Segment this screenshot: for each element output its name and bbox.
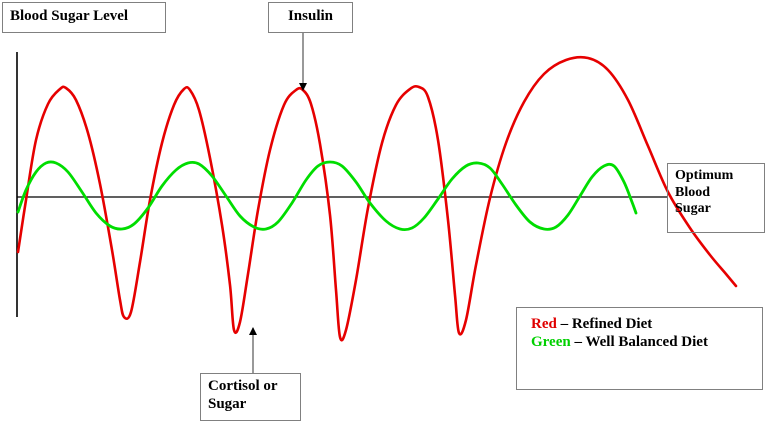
annotation-optimum-line2: Blood	[675, 185, 758, 202]
legend-rows: Red – Refined Diet Green – Well Balanced…	[517, 308, 762, 351]
legend-green-dash: –	[571, 334, 586, 350]
annotation-optimum-line3: Sugar	[675, 201, 758, 218]
legend-item-red: Red – Refined Diet	[531, 316, 762, 334]
legend-red-text: Refined Diet	[572, 316, 652, 332]
chart-canvas: Blood Sugar Level Insulin Cortisol or Su…	[0, 0, 770, 424]
chart-legend: Red – Refined Diet Green – Well Balanced…	[516, 307, 763, 390]
annotation-insulin-label: Insulin	[269, 3, 352, 26]
legend-green-text: Well Balanced Diet	[585, 334, 708, 350]
series-refined-diet-line	[18, 57, 736, 340]
legend-item-green: Green – Well Balanced Diet	[531, 334, 762, 352]
legend-red-dash: –	[557, 316, 572, 332]
annotation-cortisol-line2: Sugar	[208, 396, 294, 414]
legend-red-label: Red	[531, 316, 557, 332]
annotation-optimum-text: Optimum Blood Sugar	[668, 164, 764, 218]
annotation-optimum-line1: Optimum	[675, 168, 758, 185]
annotation-optimum-blood-sugar: Optimum Blood Sugar	[667, 163, 765, 233]
annotation-cortisol: Cortisol or Sugar	[200, 373, 301, 421]
page-title: Blood Sugar Level	[2, 2, 166, 33]
annotation-cortisol-line1: Cortisol or	[208, 378, 294, 396]
legend-green-label: Green	[531, 334, 571, 350]
page-title-label: Blood Sugar Level	[3, 3, 165, 26]
annotation-markers	[249, 33, 307, 373]
annotation-cortisol-text: Cortisol or Sugar	[201, 374, 300, 413]
arrowhead-icon	[249, 327, 257, 335]
annotation-insulin: Insulin	[268, 2, 353, 33]
